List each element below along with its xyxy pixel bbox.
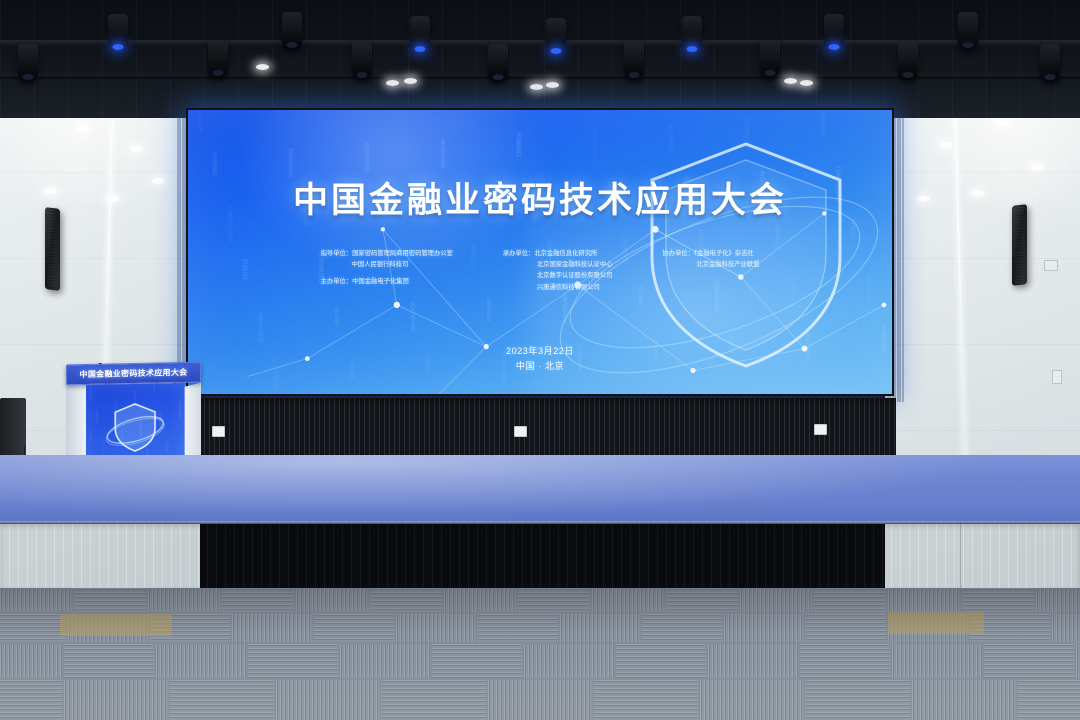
organizer-column-3: 协办单位：《金融电子化》杂志社 北京金融科技产业联盟	[662, 248, 759, 293]
truss-bar	[0, 40, 1080, 47]
par-light-icon	[108, 14, 128, 52]
wall-speaker-left	[45, 207, 60, 291]
par-light-icon	[352, 42, 372, 80]
ceiling-truss-area	[0, 0, 1080, 118]
organizer-line: 北京国家金融科技认证中心	[503, 259, 613, 270]
led-backdrop-screen: 1011010010101001011110010110101010110110…	[186, 108, 894, 396]
spot-downlight-icon	[546, 82, 559, 88]
spot-downlight-icon	[800, 80, 813, 86]
screen-organizer-block: 指导单位：国家密码管理局商用密码管理办公室 中国人民银行科技司 主办单位：中国金…	[188, 248, 892, 293]
par-light-icon	[488, 44, 508, 82]
podium-title-text: 中国金融业密码技术应用大会	[80, 367, 188, 380]
organizer-line: 北京金融科技产业联盟	[662, 259, 759, 270]
truss-bar	[0, 74, 1080, 79]
screen-date: 2023年3月22日	[188, 344, 892, 359]
downlight-icon	[995, 120, 1008, 126]
par-light-icon	[208, 40, 228, 78]
par-light-icon	[18, 44, 38, 82]
wall-outlet-plate	[514, 426, 527, 437]
par-light-icon	[624, 42, 644, 80]
screen-date-location: 2023年3月22日 中国 · 北京	[188, 344, 892, 374]
downlight-icon	[971, 190, 984, 196]
par-light-icon	[1040, 44, 1060, 82]
spot-downlight-icon	[256, 64, 269, 70]
screen-main-title: 中国金融业密码技术应用大会	[188, 172, 892, 223]
organizer-line: 兴唐通信科技有限公司	[503, 282, 613, 293]
par-light-icon	[546, 18, 566, 56]
spot-downlight-icon	[386, 80, 399, 86]
par-light-icon	[682, 16, 702, 54]
stage-panel-seam	[960, 523, 961, 588]
floor-shading	[0, 588, 1080, 720]
ceiling-grid	[0, 0, 1080, 118]
wall-speaker-right	[1012, 204, 1027, 286]
podium-header-banner: 中国金融业密码技术应用大会	[66, 362, 201, 386]
par-light-icon	[410, 16, 430, 54]
organizer-line: 中国人民银行科技司	[321, 259, 453, 270]
light-hanger	[556, 0, 558, 20]
wall-plate	[1044, 260, 1058, 271]
stage-platform-top	[0, 455, 1080, 523]
organizer-line: 北京数字认证股份有限公司	[503, 270, 613, 281]
spot-downlight-icon	[530, 84, 543, 90]
par-light-icon	[958, 12, 978, 50]
downlight-icon	[76, 126, 89, 132]
par-light-icon	[760, 40, 780, 78]
downlight-icon	[152, 178, 165, 184]
conference-hall-scene: 1011010010101001011110010110101010110110…	[0, 0, 1080, 720]
stage-panel-seam	[318, 523, 319, 588]
organizer-line: 承办单位：北京金融信息化研究所	[503, 248, 613, 259]
hall-carpet-floor	[0, 588, 1080, 720]
wall-plate	[1052, 370, 1062, 384]
stage-back-slat-wall	[184, 398, 896, 460]
downlight-icon	[44, 188, 57, 194]
par-light-icon	[282, 12, 302, 50]
downlight-icon	[130, 146, 143, 152]
downlight-icon	[917, 196, 930, 202]
organizer-line: 主办单位：中国金融电子化集团	[321, 276, 453, 287]
shield-orbit-icon	[103, 396, 167, 457]
downlight-icon	[939, 142, 952, 148]
screen-location: 中国 · 北京	[188, 359, 892, 374]
organizer-line: 协办单位：《金融电子化》杂志社	[662, 248, 759, 259]
stage-front-skirt	[0, 523, 1080, 588]
wall-outlet-plate	[814, 424, 827, 435]
downlight-icon	[1031, 164, 1044, 170]
stage-panel-seam	[748, 523, 749, 588]
organizer-column-1: 指导单位：国家密码管理局商用密码管理办公室 中国人民银行科技司 主办单位：中国金…	[321, 248, 453, 293]
organizer-column-2: 承办单位：北京金融信息化研究所 北京国家金融科技认证中心 北京数字认证股份有限公…	[503, 248, 613, 293]
organizer-line: 指导单位：国家密码管理局商用密码管理办公室	[321, 248, 453, 259]
par-light-icon	[824, 14, 844, 52]
spot-downlight-icon	[404, 78, 417, 84]
power-cable	[200, 430, 214, 456]
spot-downlight-icon	[784, 78, 797, 84]
par-light-icon	[898, 42, 918, 80]
